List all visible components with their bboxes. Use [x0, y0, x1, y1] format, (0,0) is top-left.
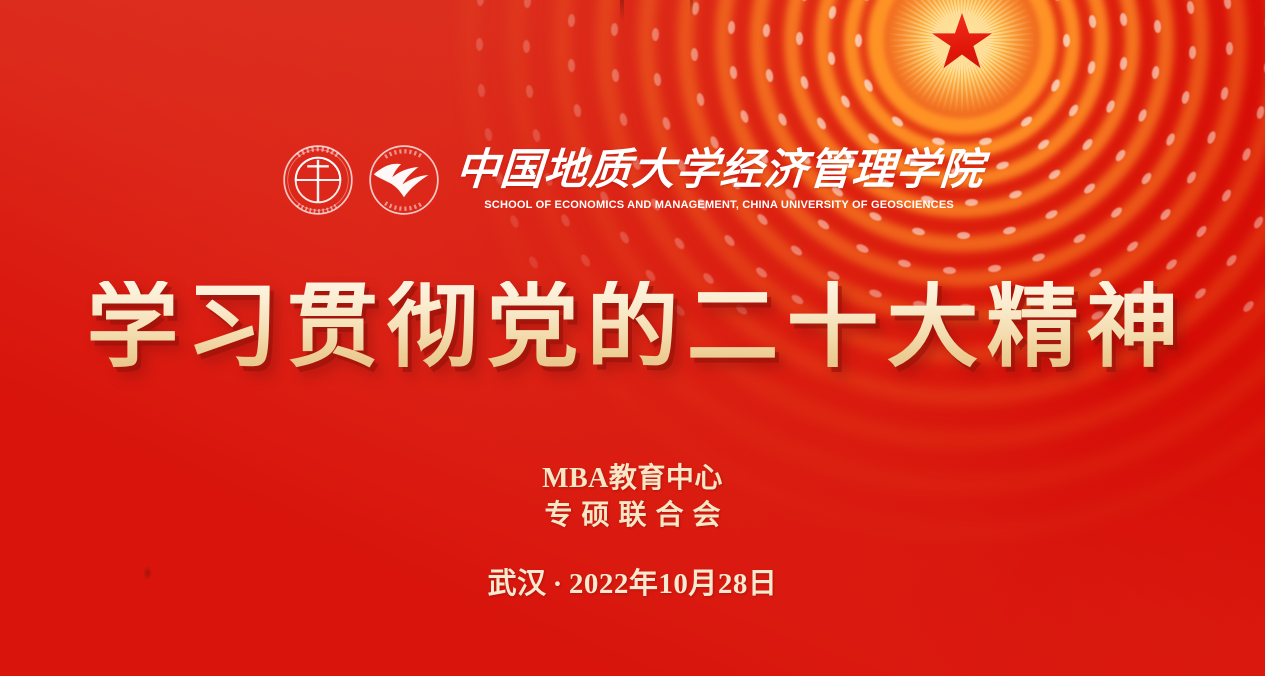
ring-bead [527, 255, 539, 270]
university-logo-lockup: 中国地质大学经济管理学院 SCHOOL OF ECONOMICS AND MAN… [0, 144, 1265, 216]
starburst-ray [924, 0, 962, 40]
starburst-ray [962, 39, 1036, 47]
ring-bead [522, 40, 529, 53]
ring-bead [789, 244, 804, 258]
ring-bead [1031, 252, 1046, 263]
starburst-ray [890, 39, 962, 60]
starburst-ray [962, 39, 1032, 66]
starburst-ray [961, 0, 988, 40]
ring-bead [525, 85, 533, 99]
starburst-ray [895, 39, 963, 72]
starburst-ray [942, 0, 963, 40]
starburst-ray [961, 40, 994, 108]
starburst-ray [919, 40, 963, 102]
starburst-ray [961, 39, 1019, 88]
starburst-ray [961, 39, 1014, 92]
ring-bead [568, 13, 576, 26]
texture-artifact [690, 0, 693, 16]
texture-artifact [620, 0, 624, 22]
footer-city: 武汉 [488, 568, 547, 600]
ring-bead [618, 231, 631, 246]
ring-bead [1119, 57, 1128, 71]
starburst-ray [961, 40, 969, 114]
ring-bead [862, 78, 874, 93]
decorative-ring [844, 0, 1080, 158]
organization-block: MBA教育中心 专硕联合会 [0, 462, 1265, 532]
ring-bead [1050, 78, 1062, 93]
ring-bead [862, 0, 874, 2]
ring-bead [988, 264, 1002, 273]
ring-bead [897, 259, 911, 269]
page-title: 学习贯彻党的二十大精神 [0, 281, 1265, 373]
ring-bead [762, 24, 770, 37]
starburst-ray [890, 20, 962, 41]
ring-bead [1164, 258, 1178, 272]
ring-bead [1181, 90, 1191, 104]
starburst-ray [962, 20, 1034, 41]
starburst-ray [888, 33, 962, 41]
ring-bead [1125, 240, 1139, 254]
starburst-ray [961, 40, 988, 110]
ring-bead [1206, 130, 1217, 145]
starburst-ray [948, 0, 962, 40]
starburst-ray [962, 8, 1030, 41]
ring-bead [1105, 99, 1117, 114]
starburst-ray [961, 0, 1010, 41]
logo-name-cn: 中国地质大学经济管理学院 [454, 149, 985, 192]
starburst-ray [914, 39, 963, 97]
ring-bead [475, 38, 482, 51]
ring-bead [777, 112, 789, 127]
starburst-ray [892, 14, 962, 41]
starburst-ray [898, 2, 963, 40]
starburst-ray [961, 40, 963, 114]
ring-bead [1088, 15, 1097, 29]
ring-bead [1255, 105, 1265, 119]
starburst-ray [961, 0, 975, 40]
ring-bead [1252, 216, 1265, 231]
starburst-ray [942, 40, 963, 112]
footer-separator: · [547, 568, 569, 600]
ring-bead [827, 51, 836, 65]
ring-bead [795, 32, 802, 45]
starburst-ray [936, 0, 963, 40]
ring-bead [957, 232, 970, 239]
starburst-ray [961, 40, 1005, 102]
ring-bead [568, 59, 576, 72]
ring-bead [692, 2, 700, 16]
presentation-slide: 中国地质大学经济管理学院 SCHOOL OF ECONOMICS AND MAN… [0, 0, 1265, 676]
starburst-ray [901, 39, 963, 83]
starburst-ray [892, 39, 962, 66]
starburst-ray [961, 40, 999, 105]
ring-bead [618, 113, 628, 127]
starburst-ray [961, 0, 969, 40]
ring-bead [1067, 103, 1080, 118]
decorative-ring [868, 0, 1056, 134]
starburst-ray [961, 40, 975, 113]
five-pointed-star-icon [932, 13, 992, 71]
ring-bead [1225, 253, 1239, 267]
starburst-ray [898, 39, 963, 77]
ring-bead [828, 5, 838, 19]
ring-bead [612, 68, 620, 82]
starburst-ray [930, 0, 963, 40]
starburst-ray [961, 0, 1014, 41]
ring-bead [739, 109, 750, 124]
ring-bead [1154, 20, 1162, 33]
ring-bead [653, 72, 662, 86]
decorative-ring [507, 0, 1265, 495]
decorative-ring [553, 0, 1265, 449]
starburst-ray [895, 8, 963, 41]
ring-bead [1119, 13, 1128, 27]
ring-bead [509, 214, 520, 229]
ring-bead [477, 0, 485, 6]
ring-bead [691, 48, 699, 61]
ring-bead [573, 104, 582, 118]
ring-bead [800, 0, 810, 2]
ring-bead [661, 116, 671, 130]
starburst-ray [962, 26, 1035, 40]
ring-bead [477, 83, 485, 97]
ring-bead [1226, 42, 1233, 55]
ring-bead [816, 116, 829, 131]
starburst-ray [888, 39, 962, 47]
starburst-ray [961, 0, 963, 40]
starburst-ray [914, 0, 963, 41]
ring-bead [524, 0, 532, 9]
starburst-ray [955, 40, 963, 114]
starburst-ray [962, 0, 1024, 41]
ring-bead [610, 23, 617, 36]
ring-bead [1220, 86, 1229, 100]
organization-line-1: MBA教育中心 [0, 462, 1265, 495]
ring-bead [890, 115, 905, 129]
starburst-ray [961, 40, 982, 112]
ring-bead [855, 34, 862, 47]
starburst-ray [948, 40, 962, 113]
starburst-ray [961, 39, 1010, 97]
ring-bead [1186, 0, 1195, 14]
starburst-ray [901, 0, 963, 41]
starburst-ray [962, 39, 1036, 41]
ring-bead [866, 131, 880, 145]
starburst-ray [961, 0, 1019, 41]
footer-date-line: 武汉·2022年10月28日 [0, 560, 1265, 602]
starburst-ray [889, 39, 962, 53]
starburst-ray [930, 40, 963, 108]
decorative-ring [460, 0, 1265, 542]
ring-bead [1151, 65, 1160, 79]
ring-bead [1189, 46, 1197, 59]
ring-bead [1137, 108, 1148, 123]
ring-bead [723, 234, 737, 248]
logo-text-column: 中国地质大学经济管理学院 SCHOOL OF ECONOMICS AND MAN… [456, 149, 984, 211]
starburst-ray [919, 0, 963, 40]
ring-bead [696, 92, 706, 106]
ring-bead [816, 218, 831, 231]
starburst-ray [909, 0, 962, 41]
starburst-ray [961, 0, 994, 40]
starburst-ray [961, 0, 999, 40]
ring-bead [800, 75, 810, 89]
starburst-ray [961, 0, 982, 40]
eagle-emblem-icon [368, 144, 440, 216]
organization-line-2: 专硕联合会 [0, 499, 1265, 532]
starburst-ray [961, 0, 1005, 40]
starburst-ray [936, 40, 963, 110]
ring-bead [673, 236, 686, 251]
starburst-ray [962, 39, 1034, 60]
ring-bead [532, 129, 542, 143]
footer-date: 2022年10月28日 [569, 568, 778, 600]
ring-bead [1223, 0, 1232, 10]
starburst-ray [905, 39, 963, 88]
ring-bead [729, 66, 738, 80]
starburst-ray [924, 40, 962, 105]
ring-bead [1195, 225, 1209, 240]
starburst-ray [962, 14, 1032, 41]
starburst-ray [962, 39, 1035, 53]
ring-bead [1072, 232, 1087, 245]
ring-bead [912, 226, 926, 236]
starburst-ray [955, 0, 963, 40]
ring-bead [943, 267, 956, 275]
starburst-ray [889, 26, 962, 40]
ring-bead [484, 128, 493, 142]
logo-name-en: SCHOOL OF ECONOMICS AND MANAGEMENT, CHIN… [485, 199, 955, 211]
starburst-ray [962, 39, 1027, 77]
starburst-ray [962, 39, 1030, 72]
ring-bead [1086, 60, 1096, 74]
starburst-ray [962, 33, 1036, 41]
ring-bead [728, 21, 736, 34]
university-seal-icon [282, 144, 354, 216]
starburst-ray [909, 39, 962, 92]
ring-bead [651, 28, 658, 41]
starburst-ray [905, 0, 963, 41]
starburst-ray [962, 2, 1027, 40]
starburst-ray [888, 39, 962, 41]
ring-bead [1020, 115, 1035, 129]
ring-bead [1050, 0, 1062, 2]
ring-bead [839, 95, 851, 110]
ring-bead [1063, 34, 1070, 47]
ring-bead [580, 253, 593, 268]
ring-bead [1002, 225, 1016, 235]
ring-bead [765, 69, 774, 83]
starburst-ray [962, 39, 1024, 83]
ring-bead [855, 242, 870, 254]
